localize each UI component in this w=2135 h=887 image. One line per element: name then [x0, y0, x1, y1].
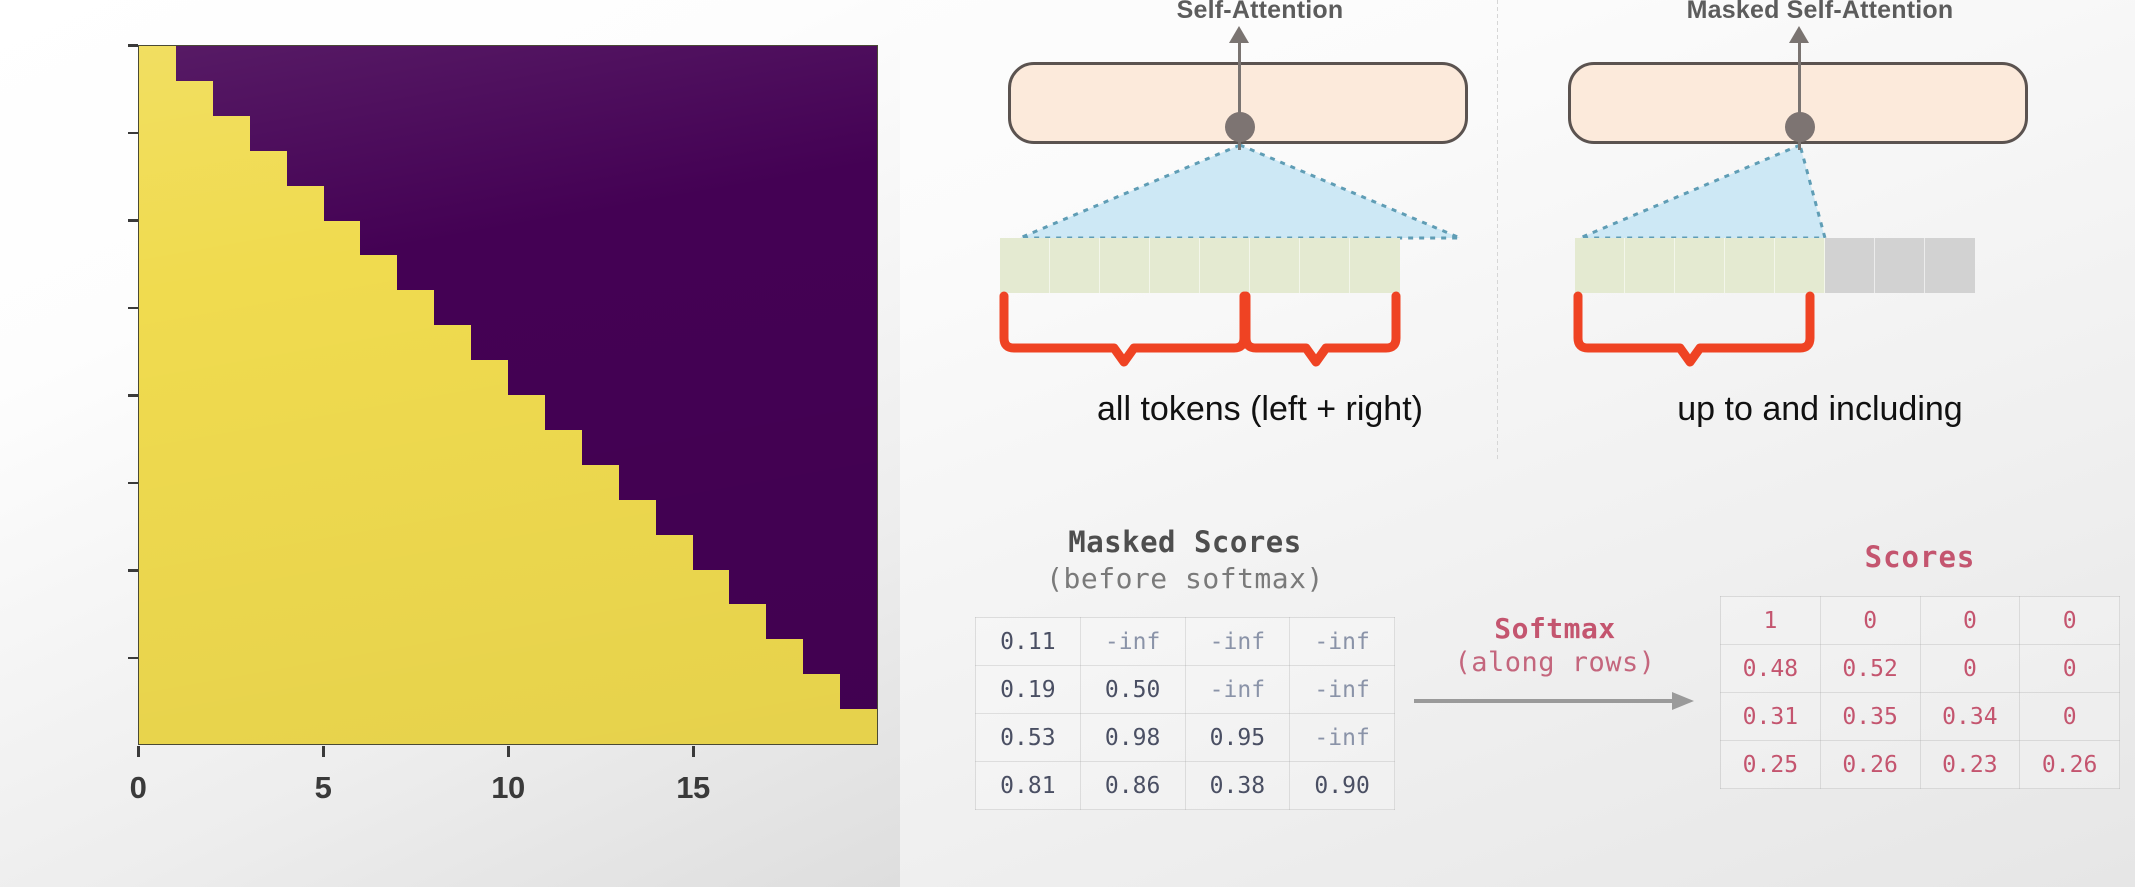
- heatmap-cell: [324, 360, 361, 395]
- heatmap-cell: [213, 639, 250, 674]
- heatmap-cell: [693, 639, 730, 674]
- table-row: 0.11-inf-inf-inf: [976, 618, 1395, 666]
- heatmap-cell: [803, 395, 840, 430]
- masked-scores-subtitle: (before softmax): [975, 562, 1395, 595]
- heatmap-cell: [545, 290, 582, 325]
- heatmap-cell: [656, 570, 693, 605]
- heatmap-cell: [434, 221, 471, 256]
- heatmap-cell: [545, 360, 582, 395]
- table-cell: 0.48: [1721, 645, 1821, 693]
- heatmap-cell: [397, 570, 434, 605]
- heatmap-cell: [619, 151, 656, 186]
- heatmap-cell: [619, 709, 656, 744]
- heatmap-cell: [656, 500, 693, 535]
- heatmap-cell: [360, 570, 397, 605]
- heatmap-cell: [360, 290, 397, 325]
- heatmap-cell: [803, 500, 840, 535]
- heatmap-plot-area: [138, 45, 878, 745]
- heatmap-cell: [803, 570, 840, 605]
- heatmap-cell: [434, 570, 471, 605]
- table-cell: 0.34: [1920, 693, 2020, 741]
- token-cell: [1675, 238, 1725, 293]
- heatmap-cell: [729, 255, 766, 290]
- heatmap-cell: [729, 604, 766, 639]
- heatmap-cell: [324, 221, 361, 256]
- heatmap-cell: [766, 500, 803, 535]
- heatmap-cell: [139, 430, 176, 465]
- heatmap-x-tick-mark: [507, 746, 510, 757]
- heatmap-cell: [471, 116, 508, 151]
- heatmap-cell: [324, 186, 361, 221]
- self-attention-diagram: Self-Attention all tokens (left + right): [1000, 0, 1520, 470]
- heatmap-cell: [693, 81, 730, 116]
- heatmap-cell: [324, 116, 361, 151]
- heatmap-cell: [250, 81, 287, 116]
- heatmap-cell: [250, 151, 287, 186]
- table-row: 0.310.350.340: [1721, 693, 2120, 741]
- heatmap-cell: [397, 221, 434, 256]
- heatmap-cell: [803, 325, 840, 360]
- scores-table: 10000.480.52000.310.350.3400.250.260.230…: [1720, 596, 2120, 789]
- heatmap-cell: [471, 674, 508, 709]
- heatmap-cell: [766, 360, 803, 395]
- heatmap-cell: [619, 674, 656, 709]
- table-cell: 0: [2020, 597, 2120, 645]
- heatmap-cell: [397, 465, 434, 500]
- heatmap-cell: [693, 221, 730, 256]
- heatmap-cell: [176, 46, 213, 81]
- heatmap-cell: [508, 46, 545, 81]
- heatmap-cell: [324, 604, 361, 639]
- heatmap-cell: [840, 221, 877, 256]
- token-cell: [1150, 238, 1200, 293]
- heatmap-cell: [545, 570, 582, 605]
- table-cell: 0.31: [1721, 693, 1821, 741]
- heatmap-cell: [693, 709, 730, 744]
- heatmap-cell: [545, 500, 582, 535]
- heatmap-cell: [213, 570, 250, 605]
- softmax-label: Softmax: [1410, 612, 1700, 645]
- heatmap-cell: [250, 395, 287, 430]
- heatmap-cell: [139, 465, 176, 500]
- heatmap-cell: [803, 116, 840, 151]
- heatmap-cell: [766, 116, 803, 151]
- scores-title: Scores: [1720, 540, 2120, 574]
- heatmap-cell: [729, 535, 766, 570]
- heatmap-cell: [434, 360, 471, 395]
- heatmap-x-tick-mark: [322, 746, 325, 757]
- heatmap-cell: [324, 325, 361, 360]
- softmax-transition: Softmax (along rows): [1410, 612, 1700, 719]
- heatmap-cell: [287, 290, 324, 325]
- heatmap-cell: [729, 395, 766, 430]
- heatmap-cell: [545, 186, 582, 221]
- heatmap-cell: [656, 360, 693, 395]
- heatmap-cell: [139, 639, 176, 674]
- heatmap-cell: [287, 535, 324, 570]
- heatmap-cell: [397, 290, 434, 325]
- heatmap-cell: [397, 46, 434, 81]
- heatmap-cell: [250, 709, 287, 744]
- heatmap-cell: [840, 570, 877, 605]
- heatmap-cell: [287, 360, 324, 395]
- heatmap-cell: [139, 116, 176, 151]
- heatmap-cell: [287, 325, 324, 360]
- heatmap-cell: [693, 325, 730, 360]
- token-row-masked: [1575, 238, 1975, 293]
- heatmap-cell: [434, 116, 471, 151]
- heatmap-cell: [508, 255, 545, 290]
- heatmap-cell: [250, 116, 287, 151]
- heatmap-cell: [471, 81, 508, 116]
- heatmap-cell: [324, 430, 361, 465]
- heatmap-cell: [176, 465, 213, 500]
- table-cell: 0: [2020, 645, 2120, 693]
- heatmap-cell: [656, 186, 693, 221]
- heatmap-cell: [397, 639, 434, 674]
- table-row: 1000: [1721, 597, 2120, 645]
- heatmap-cell: [693, 535, 730, 570]
- heatmap-cell: [729, 81, 766, 116]
- heatmap-cell: [729, 709, 766, 744]
- heatmap-cell: [176, 360, 213, 395]
- heatmap-cell: [803, 221, 840, 256]
- heatmap-cell: [397, 535, 434, 570]
- heatmap-cell: [397, 360, 434, 395]
- heatmap-cell: [803, 81, 840, 116]
- heatmap-cell: [434, 290, 471, 325]
- heatmap-cell: [360, 604, 397, 639]
- table-row: 0.810.860.380.90: [976, 762, 1395, 810]
- heatmap-cell: [471, 709, 508, 744]
- heatmap-cell: [324, 639, 361, 674]
- heatmap-cell: [729, 151, 766, 186]
- table-cell: 0.38: [1185, 762, 1290, 810]
- table-row: 0.250.260.230.26: [1721, 741, 2120, 789]
- self-attention-caption: all tokens (left + right): [960, 390, 1560, 429]
- heatmap-cell: [360, 186, 397, 221]
- table-cell: 0.35: [1820, 693, 1920, 741]
- heatmap-cell: [545, 151, 582, 186]
- masked-scores-title: Masked Scores: [975, 525, 1395, 559]
- heatmap-cell: [693, 290, 730, 325]
- heatmap-cell: [397, 186, 434, 221]
- heatmap-cell: [545, 46, 582, 81]
- heatmap-cell: [840, 395, 877, 430]
- heatmap-cell: [508, 81, 545, 116]
- heatmap-cell: [434, 639, 471, 674]
- heatmap-cell: [508, 186, 545, 221]
- heatmap-cell: [471, 570, 508, 605]
- heatmap-cell: [213, 255, 250, 290]
- heatmap-cell: [582, 325, 619, 360]
- token-cell-masked: [1825, 238, 1875, 293]
- heatmap-cell: [250, 535, 287, 570]
- table-cell: 0: [1920, 597, 2020, 645]
- heatmap-cell: [840, 535, 877, 570]
- heatmap-cell: [766, 604, 803, 639]
- heatmap-cell: [250, 46, 287, 81]
- token-cell: [1100, 238, 1150, 293]
- heatmap-y-tick-mark: [128, 307, 138, 310]
- softmax-sublabel: (along rows): [1410, 647, 1700, 678]
- heatmap-cell: [434, 500, 471, 535]
- heatmap-cell: [619, 255, 656, 290]
- heatmap-cell: [176, 325, 213, 360]
- heatmap-cell: [250, 604, 287, 639]
- heatmap-cell: [766, 325, 803, 360]
- heatmap-cell: [840, 186, 877, 221]
- scores-block: Scores 10000.480.52000.310.350.3400.250.…: [1720, 540, 2120, 789]
- heatmap-cell: [729, 465, 766, 500]
- heatmap-cell: [840, 430, 877, 465]
- heatmap-y-tick-mark: [128, 219, 138, 222]
- heatmap-cell: [729, 290, 766, 325]
- heatmap-cell: [360, 395, 397, 430]
- heatmap-cell: [176, 500, 213, 535]
- heatmap-x-tick-mark: [692, 746, 695, 757]
- heatmap-cell: [545, 535, 582, 570]
- heatmap-cell: [619, 46, 656, 81]
- heatmap-cell: [619, 465, 656, 500]
- heatmap-cell: [176, 604, 213, 639]
- heatmap-cell: [287, 395, 324, 430]
- heatmap-cell: [213, 116, 250, 151]
- heatmap-cell: [360, 639, 397, 674]
- heatmap-cell: [840, 151, 877, 186]
- heatmap-cell: [729, 430, 766, 465]
- heatmap-cell: [250, 360, 287, 395]
- heatmap-cell: [582, 709, 619, 744]
- table-row: 0.480.5200: [1721, 645, 2120, 693]
- heatmap-cell: [139, 709, 176, 744]
- heatmap-cell: [176, 639, 213, 674]
- table-cell: 0.86: [1080, 762, 1185, 810]
- heatmap-cell: [360, 116, 397, 151]
- heatmap-cell: [360, 535, 397, 570]
- heatmap-cell: [139, 500, 176, 535]
- heatmap-cell: [729, 46, 766, 81]
- heatmap-cell: [803, 674, 840, 709]
- heatmap-cell: [471, 221, 508, 256]
- softmax-arrow-icon: [1410, 688, 1700, 714]
- heatmap-cell: [619, 639, 656, 674]
- heatmap-cell: [213, 709, 250, 744]
- heatmap-cell: [434, 674, 471, 709]
- heatmap-cell: [508, 639, 545, 674]
- token-cell: [1050, 238, 1100, 293]
- heatmap-cell: [287, 709, 324, 744]
- scores-tbody: 10000.480.52000.310.350.3400.250.260.230…: [1721, 597, 2120, 789]
- heatmap-cell: [803, 255, 840, 290]
- heatmap-cell: [545, 674, 582, 709]
- heatmap-cell: [545, 325, 582, 360]
- heatmap-cell: [176, 709, 213, 744]
- token-cell-masked: [1925, 238, 1975, 293]
- table-cell: 0.98: [1080, 714, 1185, 762]
- masked-scores-tbody: 0.11-inf-inf-inf0.190.50-inf-inf0.530.98…: [976, 618, 1395, 810]
- heatmap-cell: [619, 395, 656, 430]
- heatmap-cell: [471, 46, 508, 81]
- heatmap-cell: [213, 674, 250, 709]
- heatmap-cell: [656, 325, 693, 360]
- heatmap-cell: [656, 709, 693, 744]
- heatmap-cell: [434, 46, 471, 81]
- heatmap-cell: [434, 709, 471, 744]
- heatmap-cell: [766, 639, 803, 674]
- heatmap-cell: [397, 81, 434, 116]
- heatmap-cell: [287, 570, 324, 605]
- self-attention-title: Self-Attention: [1000, 0, 1520, 25]
- heatmap-y-tick-mark: [128, 482, 138, 485]
- heatmap-cell: [324, 290, 361, 325]
- heatmap-cell: [508, 604, 545, 639]
- heatmap-cell: [360, 709, 397, 744]
- heatmap-cell: [545, 639, 582, 674]
- heatmap-cell: [324, 709, 361, 744]
- heatmap-cell: [397, 604, 434, 639]
- heatmap-cell: [397, 500, 434, 535]
- brace-causal: [1570, 292, 1870, 367]
- heatmap-cell: [656, 535, 693, 570]
- token-cell-masked: [1875, 238, 1925, 293]
- heatmap-cell: [176, 221, 213, 256]
- heatmap-x-tick-label: 15: [633, 770, 753, 806]
- heatmap-cell: [360, 81, 397, 116]
- heatmap-x-tick-label: 10: [448, 770, 568, 806]
- heatmap-cell: [324, 570, 361, 605]
- heatmap-cell: [250, 221, 287, 256]
- heatmap-cell: [582, 465, 619, 500]
- heatmap-cell: [397, 674, 434, 709]
- heatmap-cell: [176, 570, 213, 605]
- heatmap-cell: [360, 674, 397, 709]
- heatmap-cell: [582, 290, 619, 325]
- heatmap-cell: [434, 430, 471, 465]
- query-token-dot-icon: [1785, 112, 1815, 142]
- heatmap-cell: [729, 325, 766, 360]
- table-cell: 0: [1820, 597, 1920, 645]
- heatmap-cell: [213, 81, 250, 116]
- heatmap-cell: [729, 116, 766, 151]
- heatmap-cell: [250, 255, 287, 290]
- heatmap-cell: [471, 639, 508, 674]
- heatmap-cell: [176, 186, 213, 221]
- heatmap-cell: [139, 360, 176, 395]
- brace-left-right: [996, 292, 1486, 367]
- token-cell: [1725, 238, 1775, 293]
- heatmap-cell: [729, 639, 766, 674]
- heatmap-cell: [287, 221, 324, 256]
- heatmap-cell: [434, 465, 471, 500]
- table-cell: 0.25: [1721, 741, 1821, 789]
- heatmap-cell: [139, 151, 176, 186]
- heatmap-cell: [656, 255, 693, 290]
- heatmap-cell: [324, 535, 361, 570]
- heatmap-cell: [693, 151, 730, 186]
- heatmap-cell: [287, 465, 324, 500]
- heatmap-cell: [766, 395, 803, 430]
- heatmap-cell: [840, 116, 877, 151]
- heatmap-cell: [176, 430, 213, 465]
- heatmap-cell: [840, 674, 877, 709]
- heatmap-cell: [360, 465, 397, 500]
- heatmap-cell: [287, 430, 324, 465]
- table-cell: 0.90: [1290, 762, 1395, 810]
- heatmap-cell: [397, 116, 434, 151]
- heatmap-cell: [324, 465, 361, 500]
- heatmap-cell: [840, 465, 877, 500]
- heatmap-cell: [766, 674, 803, 709]
- heatmap-cell: [508, 570, 545, 605]
- heatmap-cell: [471, 604, 508, 639]
- heatmap-cell: [729, 221, 766, 256]
- heatmap-cell: [656, 46, 693, 81]
- heatmap-cell: [840, 81, 877, 116]
- heatmap-cell: [729, 186, 766, 221]
- heatmap-cell: [397, 325, 434, 360]
- heatmap-cell-grid: [139, 46, 877, 744]
- heatmap-cell: [693, 116, 730, 151]
- output-arrow-head-icon: [1789, 26, 1809, 43]
- heatmap-cell: [139, 221, 176, 256]
- heatmap-cell: [582, 430, 619, 465]
- heatmap-cell: [803, 465, 840, 500]
- heatmap-cell: [582, 604, 619, 639]
- heatmap-cell: [803, 639, 840, 674]
- heatmap-cell: [656, 81, 693, 116]
- heatmap-cell: [619, 360, 656, 395]
- heatmap-cell: [545, 221, 582, 256]
- heatmap-cell: [176, 151, 213, 186]
- table-row: 0.530.980.95-inf: [976, 714, 1395, 762]
- heatmap-cell: [582, 535, 619, 570]
- heatmap-cell: [360, 255, 397, 290]
- heatmap-cell: [287, 604, 324, 639]
- heatmap-cell: [508, 221, 545, 256]
- heatmap-cell: [840, 604, 877, 639]
- heatmap-cell: [508, 325, 545, 360]
- heatmap-cell: [766, 535, 803, 570]
- heatmap-cell: [250, 325, 287, 360]
- heatmap-cell: [397, 430, 434, 465]
- heatmap-cell: [840, 639, 877, 674]
- heatmap-cell: [434, 255, 471, 290]
- masked-self-attention-diagram: Masked Self-Attention up to and includin…: [1560, 0, 2080, 470]
- heatmap-cell: [213, 46, 250, 81]
- heatmap-cell: [766, 570, 803, 605]
- heatmap-cell: [360, 325, 397, 360]
- table-cell: 0: [2020, 693, 2120, 741]
- heatmap-cell: [766, 255, 803, 290]
- heatmap-cell: [397, 709, 434, 744]
- token-row-self: [1000, 238, 1400, 293]
- heatmap-cell: [397, 255, 434, 290]
- heatmap-cell: [287, 674, 324, 709]
- heatmap-cell: [803, 535, 840, 570]
- token-cell: [1575, 238, 1625, 293]
- heatmap-cell: [139, 255, 176, 290]
- heatmap-cell: [840, 46, 877, 81]
- heatmap-cell: [582, 570, 619, 605]
- heatmap-cell: [508, 151, 545, 186]
- heatmap-cell: [656, 395, 693, 430]
- heatmap-cell: [471, 360, 508, 395]
- heatmap-cell: [803, 46, 840, 81]
- heatmap-cell: [139, 81, 176, 116]
- heatmap-cell: [250, 430, 287, 465]
- heatmap-cell: [213, 535, 250, 570]
